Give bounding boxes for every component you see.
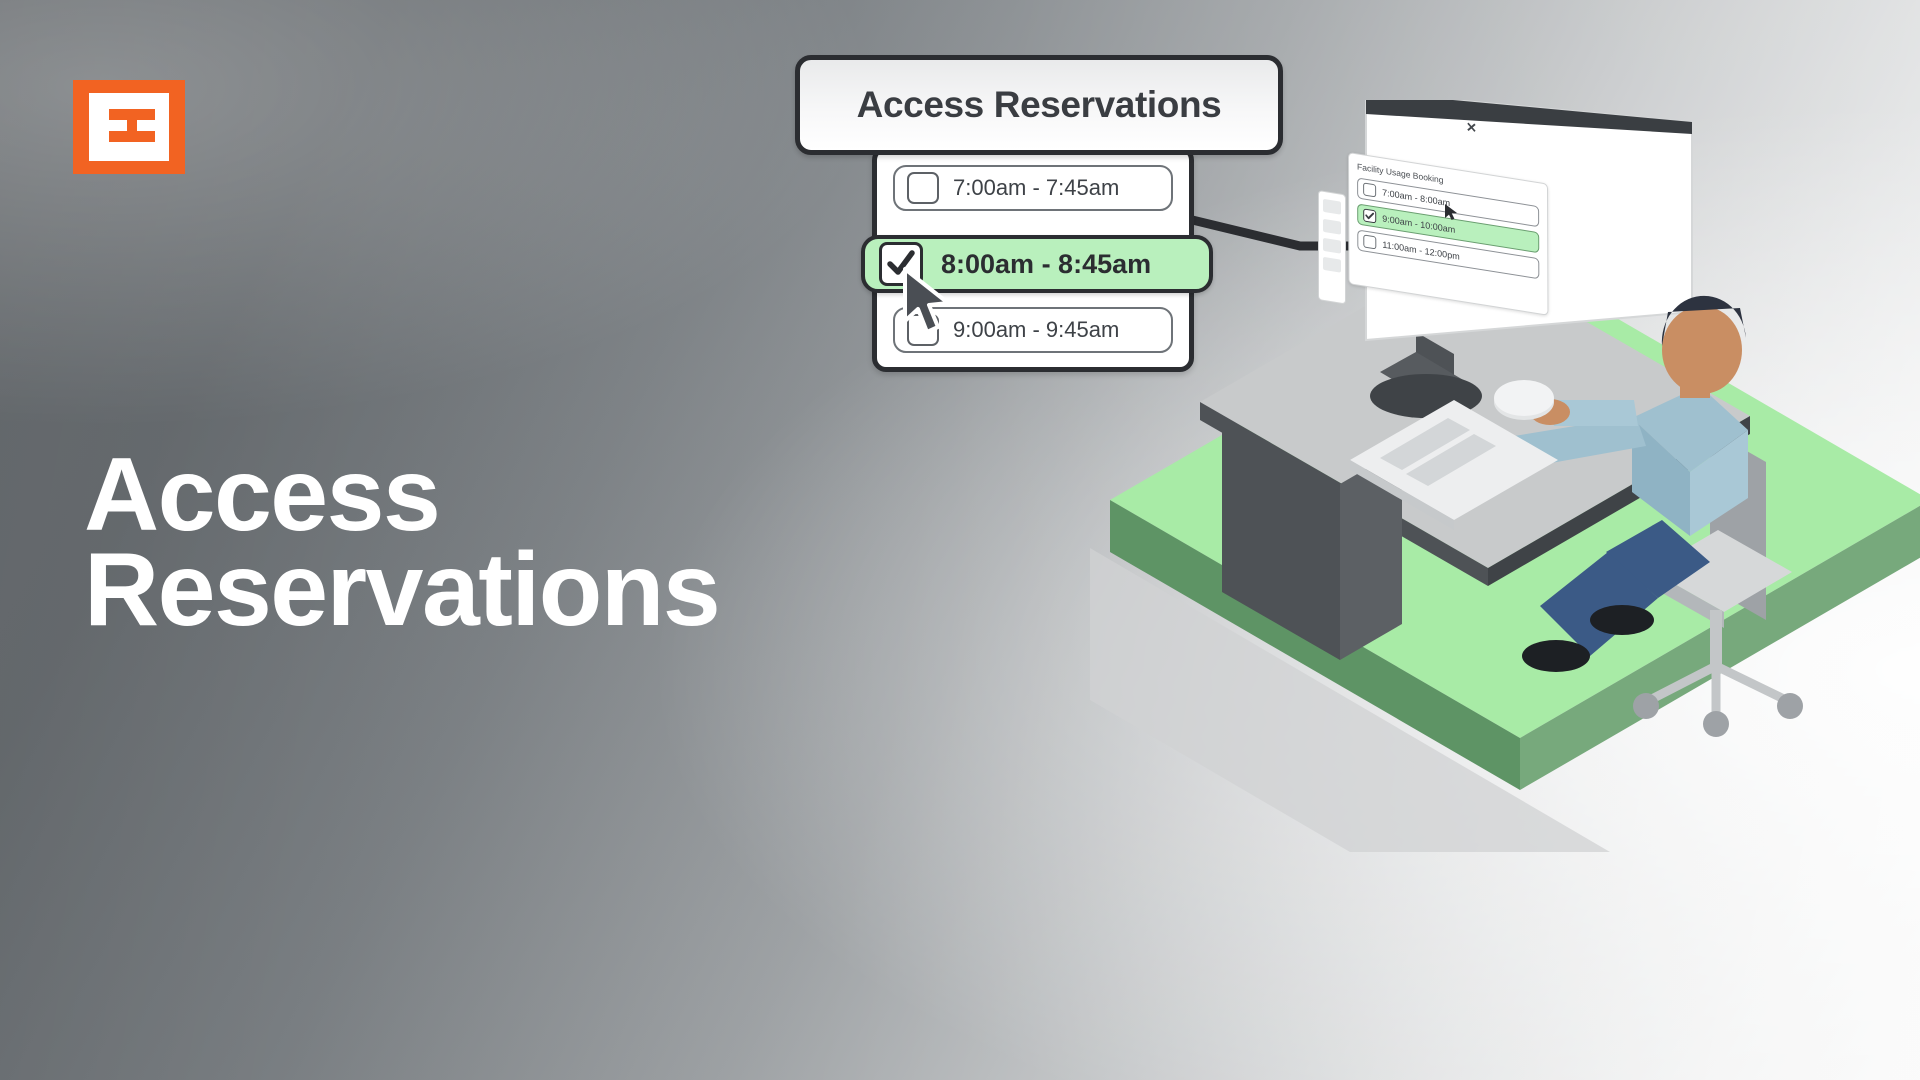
checkbox-icon[interactable]: [907, 172, 939, 204]
monitor-row-label: 7:00am - 8:00am: [1382, 187, 1450, 208]
brand-logo-icon: [73, 80, 185, 174]
callout-header-card: Access Reservations: [795, 55, 1283, 155]
page-title: Access Reservations: [84, 448, 844, 639]
close-icon[interactable]: ✕: [1466, 119, 1477, 137]
page-title-line-1: Access: [84, 448, 844, 544]
checkbox-icon[interactable]: [1363, 234, 1376, 249]
checkbox-checked-icon[interactable]: [1363, 208, 1376, 223]
logo-inner: [89, 93, 169, 161]
monitor-row-label: 11:00am - 12:00pm: [1382, 239, 1459, 261]
time-slot-label: 8:00am - 8:45am: [941, 249, 1151, 280]
logo-bar-bottom: [109, 131, 155, 142]
mouse-pointer-icon: [900, 266, 958, 340]
time-slot-label: 7:00am - 7:45am: [953, 175, 1119, 201]
callout-header-title: Access Reservations: [857, 84, 1222, 126]
time-slot-row[interactable]: 7:00am - 7:45am: [893, 165, 1173, 211]
person-head: [1662, 306, 1742, 394]
mouse-pointer-icon: [1444, 203, 1460, 223]
checkbox-icon[interactable]: [1363, 182, 1376, 197]
monitor-sidebar: [1318, 190, 1346, 305]
logo-diagonal-bottom-left: [89, 159, 120, 161]
page-title-line-2: Reservations: [84, 543, 844, 639]
time-slot-label: 9:00am - 9:45am: [953, 317, 1119, 343]
